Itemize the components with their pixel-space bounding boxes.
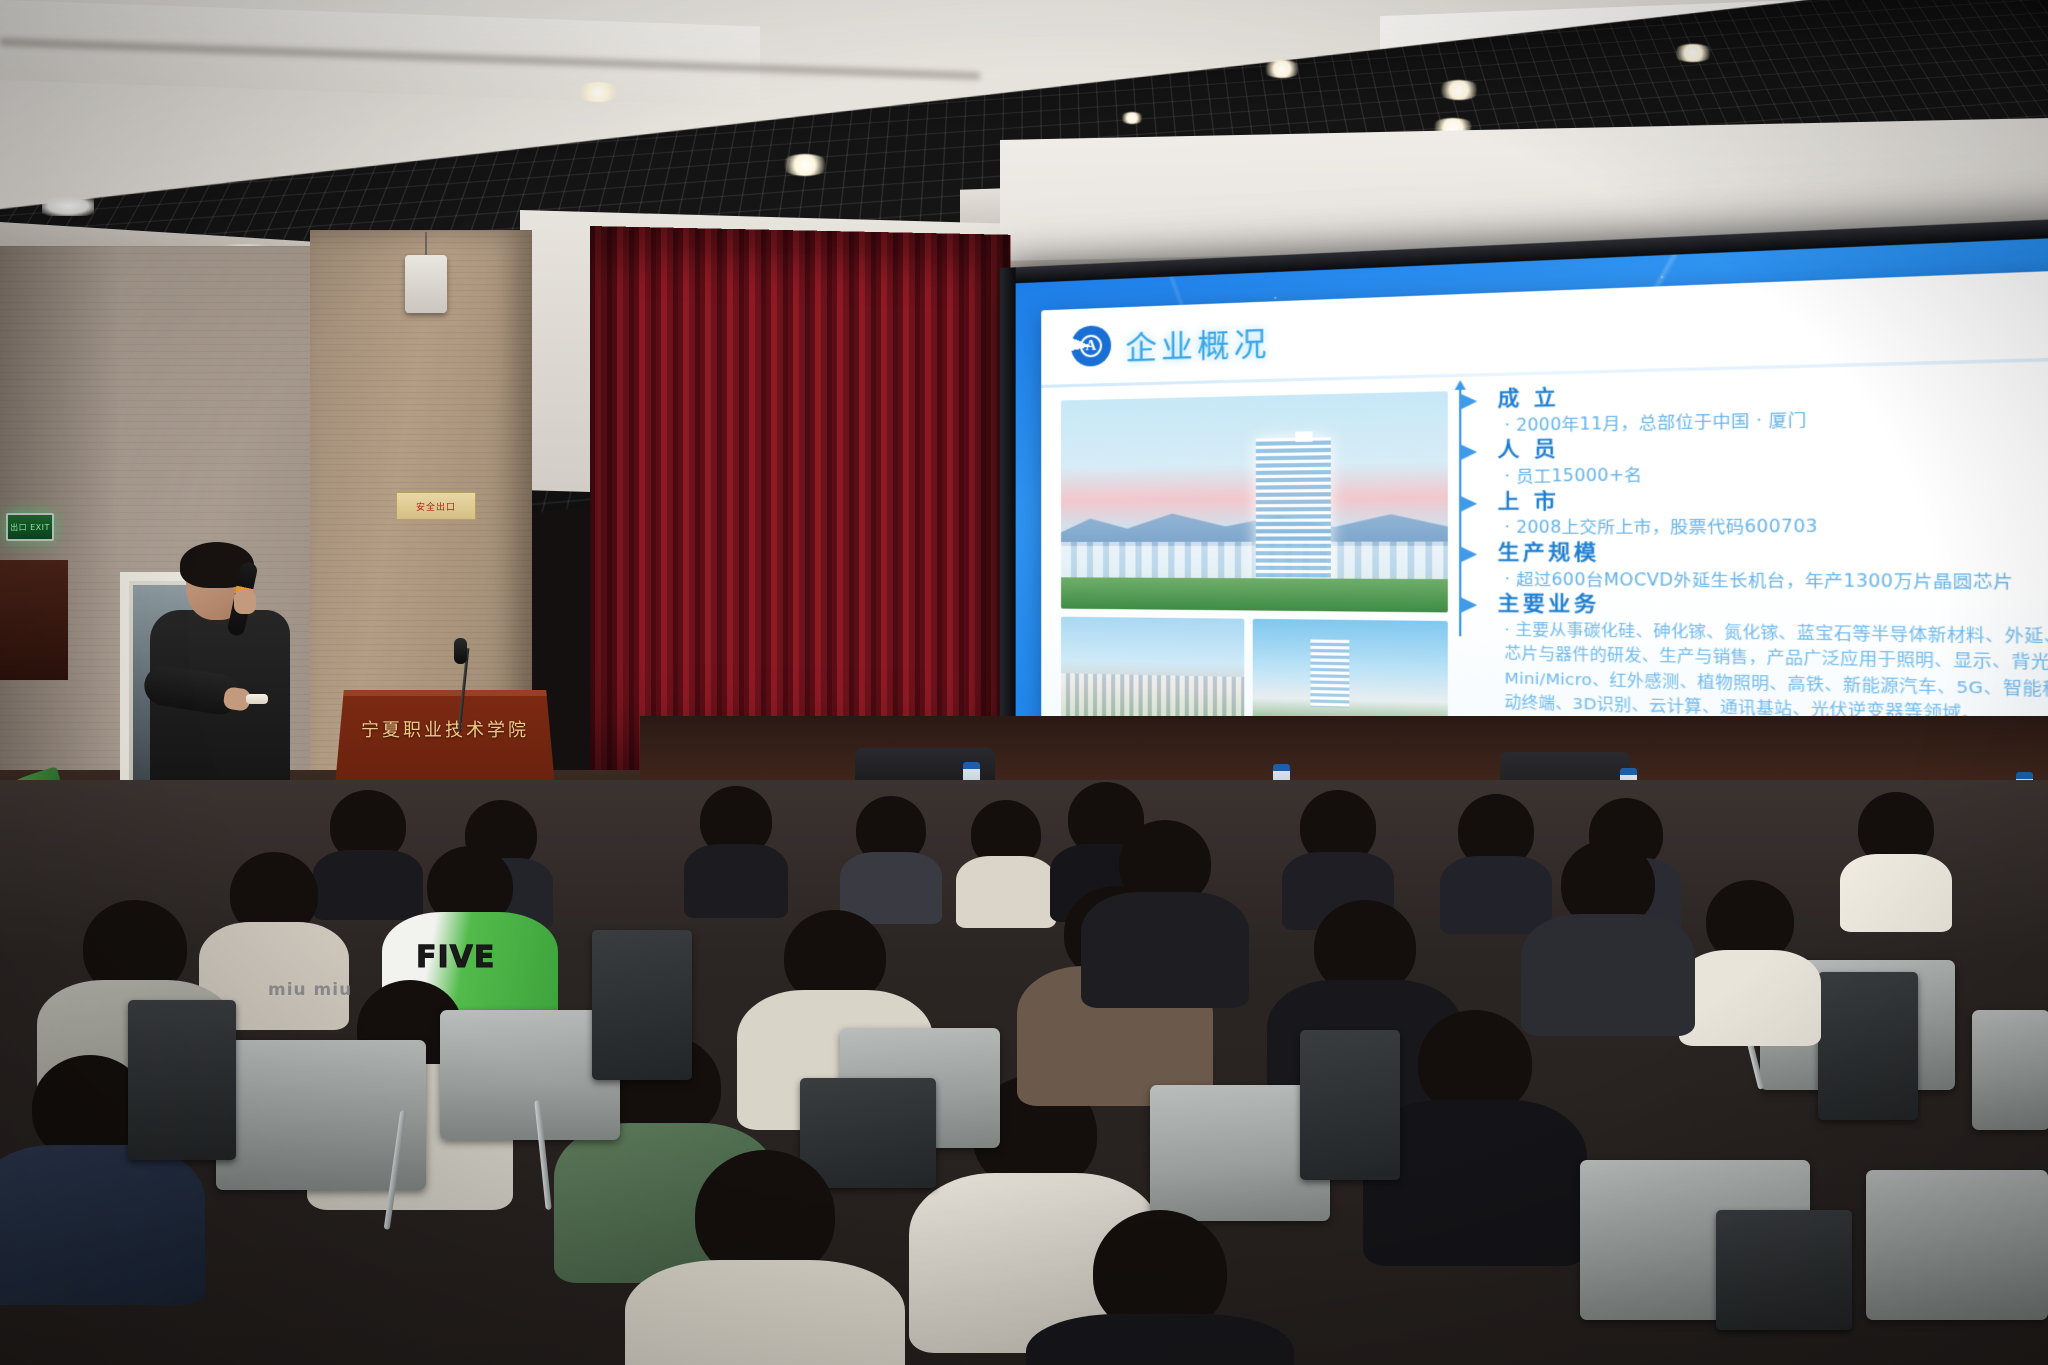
person-torso xyxy=(625,1260,905,1365)
wall-safety-sign: 安全出口 xyxy=(396,492,476,520)
bullet-arrow-icon xyxy=(1459,444,1477,461)
person-torso xyxy=(1840,854,1952,932)
downlight-8 xyxy=(1120,112,1144,124)
downlight-1 xyxy=(575,82,621,102)
fact-staff: 人 员 · 员工15000+名 xyxy=(1464,429,2048,489)
seat-tablet-arm[interactable] xyxy=(592,930,692,1080)
seat-tablet-arm[interactable] xyxy=(128,1000,236,1160)
company-logo-icon xyxy=(1071,325,1111,367)
photo-city-aerial xyxy=(1061,617,1244,731)
person-torso xyxy=(1521,914,1695,1036)
audience-person xyxy=(690,786,782,896)
person-torso xyxy=(0,1145,205,1305)
downlight-3 xyxy=(1437,80,1481,100)
person-torso xyxy=(684,844,788,918)
photo-headquarters xyxy=(1061,391,1448,612)
audience-person xyxy=(1848,792,1944,908)
fact-value: · 超过600台MOCVD外延生长机台，年产1300万片晶圆芯片 xyxy=(1498,567,2048,595)
fact-key: 上 市 xyxy=(1498,485,2048,516)
exit-sign: 出口 EXIT xyxy=(6,513,54,541)
audience-person xyxy=(1060,1210,1260,1365)
slide-card: 企业概况 xyxy=(1041,269,2048,790)
fact-value: · 2008上交所上市，股票代码600703 xyxy=(1498,513,2048,540)
audience-person xyxy=(1690,880,1810,1030)
bullet-arrow-icon xyxy=(1459,495,1477,512)
downlight-2 xyxy=(1262,60,1302,78)
seat-tablet-arm[interactable] xyxy=(1300,1030,1400,1180)
presenter-mic-hand xyxy=(234,590,256,614)
photo-tower-roof xyxy=(1295,431,1312,442)
photo-greenery xyxy=(1061,577,1448,612)
audience-person xyxy=(1448,794,1544,910)
photo-office-tower xyxy=(1256,437,1331,595)
audience-person xyxy=(1290,790,1386,906)
audience-person xyxy=(960,800,1052,910)
lectern-inscription: 宁夏职业技术学院 xyxy=(330,716,560,742)
auditorium-seat[interactable] xyxy=(1866,1170,2048,1320)
auditorium-seat[interactable] xyxy=(1972,1010,2048,1130)
wall-speaker xyxy=(405,255,447,313)
audience-person xyxy=(845,796,937,906)
bullet-arrow-icon xyxy=(1459,596,1477,613)
presenter xyxy=(150,548,290,813)
audience-person xyxy=(1100,820,1230,990)
slide-title: 企业概况 xyxy=(1125,317,1270,368)
left-wall-board xyxy=(0,560,68,680)
mic-head xyxy=(454,638,467,664)
audience-person xyxy=(660,1150,870,1365)
audience-person xyxy=(1390,1010,1560,1240)
auditorium-photo: 企业概况 xyxy=(0,0,2048,1365)
person-torso xyxy=(1081,892,1249,1008)
fact-listing: 上 市 · 2008上交所上市，股票代码600703 xyxy=(1464,485,2048,540)
seat-tablet-arm[interactable] xyxy=(1716,1210,1852,1330)
downlight-4 xyxy=(1672,44,1714,62)
fact-capacity: 生产规模 · 超过600台MOCVD外延生长机台，年产1300万片晶圆芯片 xyxy=(1464,541,2048,595)
presentation-clicker xyxy=(246,694,268,704)
downlight-9 xyxy=(42,196,94,216)
fact-founded: 成 立 · 2000年11月，总部位于中国 · 厦门 xyxy=(1464,374,2048,439)
fact-key: 生产规模 xyxy=(1498,541,2048,569)
seat-tablet-arm[interactable] xyxy=(1818,972,1918,1120)
person-torso xyxy=(1026,1314,1294,1365)
bullet-arrow-icon xyxy=(1459,546,1477,563)
photo-mountains xyxy=(1061,497,1448,546)
clothing-logo-five: FIVE xyxy=(416,940,495,975)
person-torso xyxy=(1679,950,1821,1046)
person-torso xyxy=(1440,856,1552,934)
slide-photo-column xyxy=(1041,385,1448,767)
audience-person xyxy=(1540,840,1676,1020)
bullet-arrow-icon xyxy=(1459,393,1477,411)
downlight-5 xyxy=(780,154,830,176)
